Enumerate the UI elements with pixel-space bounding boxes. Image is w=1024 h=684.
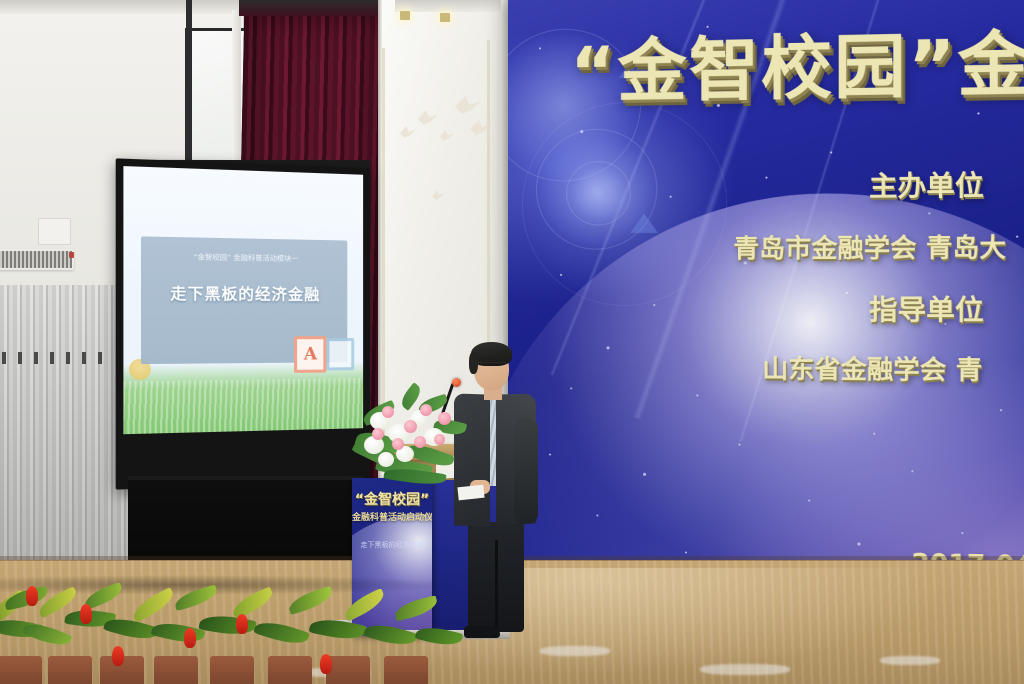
- podium-flower-arrangement: [352, 382, 474, 484]
- event-backdrop-banner: “金智校园”金融科 主办单位 青岛市金融学会 青岛大 指导单位 山东省金融学会 …: [508, 0, 1024, 608]
- foreground-plant-row: [0, 580, 460, 684]
- plant-pot: [154, 656, 198, 684]
- air-conditioning-vent: [0, 249, 74, 270]
- speaker-held-paper: [457, 485, 484, 501]
- slide-grass-graphic: [123, 362, 363, 434]
- bromeliad-flower: [184, 628, 196, 648]
- ceiling-spotlight: [400, 11, 410, 20]
- plant-pot: [384, 656, 428, 684]
- ceiling-spotlight: [440, 13, 450, 22]
- banner-guidance-label: 指导单位: [869, 288, 984, 328]
- speaker-leg-seam: [495, 540, 498, 630]
- podium-subtitle-text: 金融科普活动启动仪式: [352, 510, 432, 523]
- bromeliad-flower: [236, 614, 248, 634]
- wall-access-panel: [38, 218, 71, 245]
- screen-projection-surface: “金智校园” 金融科普活动模块一 走下黑板的经济金融 A: [123, 166, 363, 434]
- slide-headline-text: 走下黑板的经济金融: [141, 282, 347, 305]
- podium-tagline-text: 走下黑板的经济金融: [352, 540, 432, 550]
- bromeliad-flower: [112, 646, 124, 666]
- plant-pot: [48, 656, 92, 684]
- banner-main-title: “金智校园”金融科: [570, 29, 1024, 109]
- plant-pot: [268, 656, 312, 684]
- slide-kicker-text: “金智校园” 金融科普活动模块一: [141, 252, 347, 265]
- stage-photo-scene: “金智校园”金融科 主办单位 青岛市金融学会 青岛大 指导单位 山东省金融学会 …: [0, 0, 1024, 684]
- plant-pot: [0, 656, 42, 684]
- bromeliad-flower: [26, 586, 38, 606]
- screen-support-pole: [186, 0, 192, 170]
- banner-organizer-label: 主办单位: [869, 163, 984, 204]
- podium-title-text: “金智校园”: [352, 489, 432, 509]
- bromeliad-flower: [320, 654, 332, 674]
- slat-wall-vent-holes: [2, 352, 107, 364]
- ceiling-strip-left: [0, 0, 243, 14]
- slide-letter-block: A: [294, 336, 326, 373]
- slide-letter-block-secondary: [326, 338, 354, 370]
- vent-indicator-dot: [69, 252, 74, 258]
- bromeliad-flower: [80, 604, 92, 624]
- banner-triangle-accent: [630, 213, 658, 233]
- plant-pot: [210, 656, 254, 684]
- speaker-right-arm: [514, 418, 538, 524]
- banner-organizer-value: 青岛市金融学会 青岛大: [733, 227, 1006, 265]
- plant-pot: [326, 656, 370, 684]
- speaker-eyeglasses: [476, 362, 506, 371]
- curtain-rail: [239, 0, 389, 16]
- floor-scuff-mark: [540, 646, 610, 656]
- speaker-shoe: [464, 626, 500, 638]
- floor-scuff-mark: [700, 664, 790, 675]
- projection-screen: “金智校园” 金融科普活动模块一 走下黑板的经济金融 A: [116, 158, 370, 489]
- banner-guidance-value: 山东省金融学会 青: [762, 349, 982, 387]
- floor-scuff-mark: [880, 656, 940, 665]
